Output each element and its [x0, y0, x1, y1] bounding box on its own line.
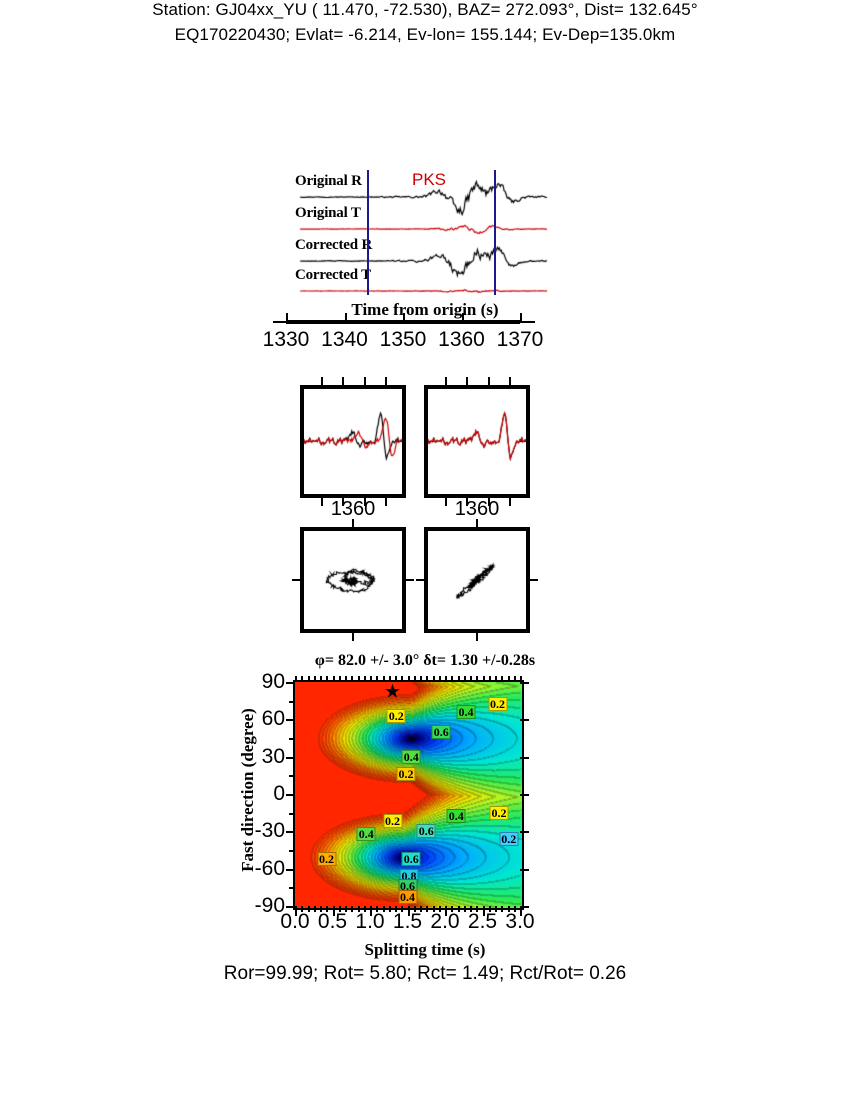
- contour-y-tick-label: 60: [262, 707, 285, 731]
- contour-level-label: 0.2: [490, 806, 509, 820]
- time-axis-label: Time from origin (s): [0, 300, 850, 320]
- hodogram-corrected: [428, 531, 526, 629]
- contour-minor-tick: [295, 676, 297, 682]
- contour-minor-tick: [451, 676, 453, 682]
- contour-y-minor-tick: [289, 831, 295, 833]
- time-tick-label: 1330: [263, 328, 310, 352]
- contour-level-label: 0.4: [402, 750, 421, 764]
- contour-x-tick-label: 2.5: [468, 910, 497, 934]
- contour-minor-tick: [326, 676, 328, 682]
- contour-minor-tick: [470, 676, 472, 682]
- contour-x-tick-label: 1.5: [393, 910, 422, 934]
- contour-y-tick-label: -60: [255, 857, 285, 881]
- contour-minor-tick: [501, 676, 503, 682]
- contour-x-tick-label: 1.0: [355, 910, 384, 934]
- contour-y-minor-tick: [289, 887, 295, 889]
- contour-y-major-tick: [520, 719, 529, 721]
- panel-tick: [466, 498, 468, 506]
- panel-tick: [342, 377, 344, 385]
- contour-level-label: 0.6: [432, 725, 451, 739]
- contour-minor-tick: [308, 676, 310, 682]
- contour-minor-tick: [345, 676, 347, 682]
- contour-y-minor-tick: [289, 701, 295, 703]
- contour-y-tick-label: 30: [262, 745, 285, 769]
- contour-y-major-tick: [286, 682, 295, 684]
- hodogram-axis-tick: [476, 519, 478, 527]
- contour-y-major-tick: [520, 757, 529, 759]
- contour-y-minor-tick: [289, 775, 295, 777]
- contour-level-label: 0.2: [387, 709, 406, 723]
- contour-level-label: 0.2: [397, 767, 416, 781]
- time-tick-label: 1370: [497, 328, 544, 352]
- contour-y-minor-tick: [289, 719, 295, 721]
- header-event-line: EQ170220430; Evlat= -6.214, Ev-lon= 155.…: [0, 25, 850, 45]
- window-marker-end: [494, 170, 496, 295]
- hodogram-axis-tick: [530, 579, 538, 581]
- fast-slow-waveforms-corrected: [428, 389, 526, 494]
- contour-y-major-tick: [520, 682, 529, 684]
- contour-level-label: 0.4: [357, 827, 376, 841]
- contour-y-minor-tick: [289, 813, 295, 815]
- contour-minor-tick: [458, 676, 460, 682]
- contour-level-label: 0.2: [499, 832, 518, 846]
- hodogram-axis-tick: [352, 519, 354, 527]
- contour-y-minor-tick: [289, 738, 295, 740]
- contour-y-major-tick: [520, 869, 529, 871]
- contour-minor-tick: [420, 676, 422, 682]
- contour-x-tick-label: 3.0: [505, 910, 534, 934]
- contour-y-tick-labels: 9060300-30-60-90: [230, 680, 285, 906]
- hodogram-axis-tick: [352, 633, 354, 641]
- contour-minor-tick: [370, 676, 372, 682]
- contour-minor-tick: [408, 676, 410, 682]
- contour-minor-tick: [464, 676, 466, 682]
- time-tick: [462, 313, 464, 322]
- contour-minor-tick: [439, 676, 441, 682]
- time-tick: [345, 313, 347, 322]
- panel-tick: [385, 377, 387, 385]
- contour-minor-tick: [301, 676, 303, 682]
- fast-slow-waveforms-uncorrected: [304, 389, 402, 494]
- contour-level-label: 0.6: [417, 824, 436, 838]
- contour-level-label: 0.2: [488, 697, 507, 711]
- hodogram-axis-tick: [406, 579, 414, 581]
- fast-slow-panel-uncorrected: [300, 385, 406, 498]
- contour-y-major-tick: [286, 906, 295, 908]
- contour-y-tick-label: -30: [255, 819, 285, 843]
- contour-minor-tick: [351, 676, 353, 682]
- contour-level-label: 0.2: [317, 852, 336, 866]
- time-tick: [286, 313, 288, 322]
- quality-statistics-footer: Ror=99.99; Rot= 5.80; Rct= 1.49; Rct/Rot…: [0, 963, 850, 985]
- contour-minor-tick: [320, 676, 322, 682]
- contour-minor-tick: [333, 676, 335, 682]
- contour-minor-tick: [401, 676, 403, 682]
- window-marker-start: [367, 170, 369, 295]
- best-solution-star-marker: ★: [384, 682, 401, 701]
- contour-level-label: 0.6: [402, 852, 421, 866]
- pks-phase-label: PKS: [412, 170, 446, 190]
- particle-motion-uncorrected: [300, 527, 406, 633]
- contour-minor-tick: [514, 676, 516, 682]
- contour-minor-tick: [339, 676, 341, 682]
- contour-y-tick-label: 0: [273, 782, 285, 806]
- contour-minor-tick: [508, 676, 510, 682]
- time-tick: [403, 313, 405, 322]
- panel-tick: [364, 498, 366, 506]
- contour-x-axis-label: Splitting time (s): [0, 940, 850, 960]
- hodogram-axis-tick: [476, 633, 478, 641]
- time-tick: [520, 313, 522, 322]
- contour-minor-tick: [483, 676, 485, 682]
- contour-y-minor-tick: [289, 794, 295, 796]
- contour-x-tick-label: 0.5: [318, 910, 347, 934]
- particle-motion-corrected: [424, 527, 530, 633]
- panel-tick: [445, 498, 447, 506]
- panel-tick: [385, 498, 387, 506]
- panel-tick: [321, 377, 323, 385]
- trace-label-original-r: Original R: [295, 172, 362, 190]
- contour-minor-tick: [426, 676, 428, 682]
- contour-y-minor-tick: [289, 869, 295, 871]
- contour-minor-tick: [358, 676, 360, 682]
- contour-x-tick-labels: 0.00.51.01.52.02.53.0: [0, 910, 850, 938]
- hodogram-uncorrected: [304, 531, 402, 629]
- contour-y-major-tick: [520, 794, 529, 796]
- panel-tick: [509, 377, 511, 385]
- contour-y-tick-label: 90: [262, 670, 285, 694]
- hodogram-axis-tick: [416, 579, 424, 581]
- contour-minor-tick: [376, 676, 378, 682]
- contour-level-label: 0.4: [447, 809, 466, 823]
- contour-minor-tick: [414, 676, 416, 682]
- fast-slow-panel-corrected: [424, 385, 530, 498]
- hodogram-axis-tick: [292, 579, 300, 581]
- contour-minor-tick: [495, 676, 497, 682]
- panel-tick: [364, 377, 366, 385]
- contour-plot-title: φ= 82.0 +/- 3.0° δt= 1.30 +/-0.28s: [0, 652, 850, 670]
- contour-minor-tick: [314, 676, 316, 682]
- contour-minor-tick: [433, 676, 435, 682]
- contour-y-minor-tick: [289, 757, 295, 759]
- time-tick-label: 1340: [321, 328, 368, 352]
- contour-y-major-tick: [520, 831, 529, 833]
- header-station-line: Station: GJ04xx_YU ( 11.470, -72.530), B…: [0, 0, 850, 20]
- contour-y-minor-tick: [289, 850, 295, 852]
- panel-tick: [466, 377, 468, 385]
- time-axis-tick-labels: 13301340135013601370: [255, 328, 575, 358]
- contour-level-label: 0.4: [398, 890, 417, 904]
- contour-x-tick-label: 0.0: [280, 910, 309, 934]
- time-tick-label: 1360: [438, 328, 485, 352]
- panel-tick: [321, 498, 323, 506]
- contour-y-major-tick: [520, 906, 529, 908]
- panel-tick: [342, 498, 344, 506]
- time-tick-label: 1350: [380, 328, 427, 352]
- trace-label-corrected-r: Corrected R: [295, 236, 372, 254]
- contour-minor-tick: [445, 676, 447, 682]
- trace-label-original-t: Original T: [295, 204, 361, 222]
- figure-header: Station: GJ04xx_YU ( 11.470, -72.530), B…: [0, 0, 850, 50]
- panel-tick: [488, 498, 490, 506]
- panel-tick: [509, 498, 511, 506]
- contour-level-label: 0.4: [457, 705, 476, 719]
- contour-minor-tick: [364, 676, 366, 682]
- panel-tick: [445, 377, 447, 385]
- panel-tick: [488, 377, 490, 385]
- contour-level-label: 0.2: [383, 814, 402, 828]
- contour-x-tick-label: 2.0: [430, 910, 459, 934]
- contour-minor-tick: [476, 676, 478, 682]
- contour-minor-tick: [489, 676, 491, 682]
- trace-label-corrected-t: Corrected T: [295, 266, 371, 284]
